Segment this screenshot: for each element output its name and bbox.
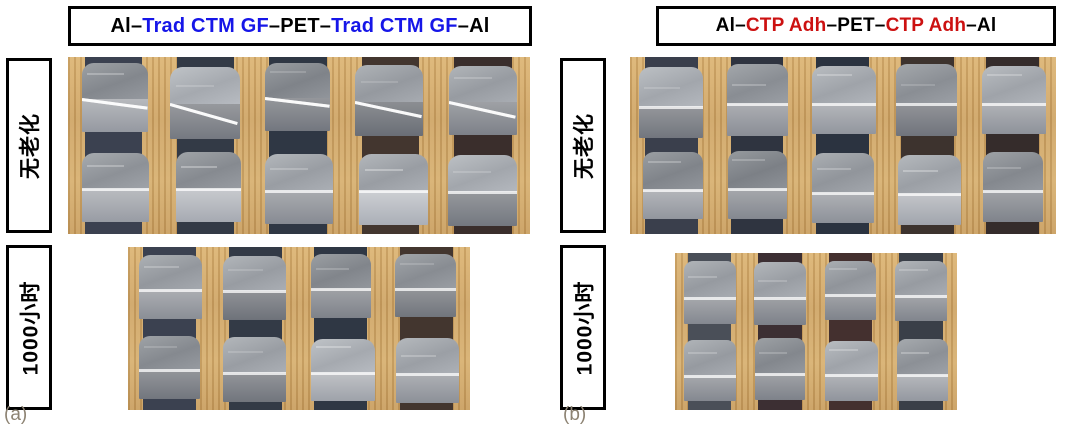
specimen-upper-face	[355, 65, 423, 102]
specimen-upper-face	[176, 152, 242, 188]
peel-specimen	[895, 261, 947, 321]
delamination-seam	[755, 373, 805, 376]
peel-specimen	[896, 64, 957, 136]
peel-specimen	[170, 67, 240, 138]
panel-b-title: Al–CTP Adh– PET–CTP Adh–Al	[656, 6, 1056, 46]
title-b-seg-5: –	[875, 15, 886, 37]
specimen-highlight	[987, 74, 1022, 76]
specimen-highlight	[181, 166, 217, 168]
title-b-seg-3: –	[826, 15, 837, 37]
specimen-highlight	[316, 268, 349, 270]
delamination-seam	[139, 369, 200, 372]
specimen-highlight	[454, 77, 492, 79]
panel-b-1000h-photo	[675, 253, 957, 410]
specimen-upper-face	[139, 336, 200, 371]
panel-a-title: Al–Trad CTM GF– PET–Trad CTM GF–Al	[68, 6, 532, 46]
specimen-lower-face	[897, 375, 948, 401]
peel-specimen	[139, 336, 200, 399]
peel-specimen	[898, 155, 961, 225]
delamination-seam	[895, 295, 947, 298]
specimen-upper-face	[812, 153, 874, 192]
title-b-seg-4: PET	[837, 15, 875, 37]
specimen-highlight	[829, 268, 857, 270]
delamination-seam	[684, 297, 736, 300]
peel-specimen	[754, 262, 806, 325]
specimen-lower-face	[139, 370, 200, 398]
specimen-highlight	[732, 84, 766, 86]
peel-specimen	[176, 152, 242, 222]
delamination-seam	[684, 375, 736, 378]
specimen-highlight	[644, 87, 679, 89]
panel-a-row-label-1000h: 1000小时	[6, 245, 52, 410]
title-a-seg-3: –	[269, 15, 280, 38]
delamination-seam	[395, 288, 456, 291]
panel-b-caption: (b)	[563, 404, 586, 426]
specimen-highlight	[817, 74, 852, 76]
specimen-lower-face	[825, 375, 878, 400]
delamination-seam	[311, 372, 376, 375]
specimen-highlight	[759, 352, 787, 354]
specimen-highlight	[899, 269, 928, 271]
peel-specimen	[639, 67, 703, 139]
specimen-highlight	[87, 73, 123, 75]
specimen-upper-face	[223, 256, 286, 291]
specimen-upper-face	[139, 255, 202, 290]
peel-specimen	[449, 66, 517, 135]
specimen-lower-face	[684, 298, 736, 324]
row-label-text: 无老化	[14, 113, 44, 179]
specimen-upper-face	[983, 152, 1044, 191]
specimen-lower-face	[812, 104, 876, 134]
specimen-lower-face	[812, 193, 874, 224]
specimen-lower-face	[755, 374, 805, 400]
specimen-highlight	[361, 81, 398, 83]
specimen-lower-face	[396, 374, 460, 404]
specimen-lower-face	[825, 295, 876, 320]
specimen-upper-face	[728, 151, 788, 189]
delamination-seam	[265, 190, 334, 193]
specimen-lower-face	[395, 289, 456, 317]
specimen-upper-face	[898, 155, 961, 194]
specimen-upper-face	[825, 341, 878, 376]
title-b-seg-0: Al	[716, 15, 735, 37]
specimen-highlight	[270, 168, 308, 170]
peel-specimen	[825, 341, 878, 401]
panel-a-1000h-photo	[128, 247, 470, 410]
delamination-seam	[139, 289, 202, 292]
specimen-upper-face	[395, 254, 456, 289]
specimen-highlight	[401, 355, 436, 357]
specimen-lower-face	[898, 194, 961, 225]
specimen-upper-face	[897, 339, 948, 375]
specimen-upper-face	[812, 66, 876, 104]
peel-specimen	[265, 154, 334, 224]
specimen-upper-face	[448, 155, 518, 192]
title-a-seg-0: Al	[111, 15, 131, 38]
title-b-seg-6: CTP Adh	[886, 15, 967, 37]
panel-b-unaged-photo	[630, 57, 1056, 234]
specimen-highlight	[829, 349, 858, 351]
delamination-seam	[812, 103, 876, 106]
row-label-text: 无老化	[568, 113, 598, 179]
specimen-lower-face	[639, 107, 703, 139]
specimen-highlight	[365, 169, 403, 171]
peel-specimen	[355, 65, 423, 136]
delamination-seam	[311, 288, 371, 291]
specimen-highlight	[732, 159, 765, 161]
specimen-lower-face	[139, 290, 202, 319]
specimen-lower-face	[643, 190, 703, 220]
peel-specimen	[395, 254, 456, 317]
specimen-lower-face	[223, 373, 286, 402]
delamination-seam	[897, 374, 948, 377]
delamination-seam	[643, 189, 703, 192]
peel-specimen	[82, 153, 149, 222]
panel-b-row-label-unaged: 无老化	[560, 58, 606, 233]
specimen-upper-face	[311, 254, 371, 290]
specimen-lower-face	[82, 189, 149, 222]
title-a-seg-7: –	[458, 15, 469, 38]
delamination-seam	[82, 188, 149, 191]
delamination-seam	[448, 191, 518, 194]
peel-specimen	[139, 255, 202, 318]
row-label-text: 1000小时	[14, 280, 44, 375]
specimen-highlight	[648, 161, 681, 163]
specimen-upper-face	[895, 261, 947, 296]
specimen-upper-face	[265, 154, 334, 190]
specimen-highlight	[901, 352, 929, 354]
delamination-seam	[754, 297, 806, 300]
specimen-lower-face	[265, 191, 334, 225]
specimen-lower-face	[311, 373, 376, 401]
peel-specimen	[223, 256, 286, 320]
peel-specimen	[897, 339, 948, 401]
panel-a-unaged-photo	[68, 57, 530, 234]
specimen-upper-face	[755, 338, 805, 374]
peel-specimen	[359, 154, 428, 224]
figure-root: Al–Trad CTM GF– PET–Trad CTM GF–Al 无老化 1…	[0, 0, 1080, 433]
specimen-upper-face	[982, 66, 1046, 104]
delamination-seam	[812, 192, 874, 195]
delamination-seam	[896, 103, 957, 106]
specimen-highlight	[87, 165, 124, 167]
specimen-lower-face	[754, 298, 806, 325]
specimen-upper-face	[82, 153, 149, 189]
specimen-upper-face	[449, 66, 517, 102]
specimen-lower-face	[727, 104, 788, 136]
specimen-upper-face	[223, 337, 286, 372]
specimen-highlight	[453, 171, 491, 173]
delamination-seam	[223, 372, 286, 375]
specimen-highlight	[688, 352, 717, 354]
peel-specimen	[396, 338, 460, 404]
delamination-seam	[983, 190, 1044, 193]
peel-specimen	[311, 339, 376, 401]
specimen-lower-face	[355, 102, 423, 136]
specimen-highlight	[987, 167, 1020, 169]
specimen-lower-face	[176, 189, 242, 223]
specimen-highlight	[901, 84, 935, 86]
delamination-seam	[396, 373, 460, 376]
peel-specimen	[643, 152, 703, 220]
title-b-seg-2: CTP Adh	[746, 15, 827, 37]
delamination-seam	[639, 106, 703, 109]
specimen-upper-face	[684, 261, 736, 297]
specimen-highlight	[758, 280, 787, 282]
peel-specimen	[812, 153, 874, 223]
specimen-lower-face	[684, 376, 736, 402]
specimen-lower-face	[728, 189, 788, 219]
title-a-seg-1: –	[131, 15, 142, 38]
specimen-lower-face	[359, 191, 428, 225]
delamination-seam	[898, 193, 961, 196]
peel-specimen	[982, 66, 1046, 133]
specimen-upper-face	[684, 340, 736, 376]
specimen-highlight	[400, 263, 434, 265]
peel-specimen	[684, 261, 736, 324]
peel-specimen	[265, 63, 330, 131]
delamination-seam	[982, 103, 1046, 106]
peel-specimen	[755, 338, 805, 400]
title-a-seg-4: PET	[280, 15, 320, 38]
specimen-upper-face	[825, 261, 876, 296]
specimen-upper-face	[265, 63, 330, 98]
specimen-lower-face	[311, 289, 371, 318]
title-a-seg-5: –	[320, 15, 331, 38]
title-b-seg-1: –	[735, 15, 746, 37]
specimen-highlight	[176, 85, 215, 87]
specimen-lower-face	[448, 192, 518, 226]
specimen-highlight	[270, 71, 306, 73]
specimen-lower-face	[983, 191, 1044, 222]
specimen-highlight	[228, 269, 263, 271]
specimen-highlight	[144, 266, 178, 268]
peel-specimen	[727, 64, 788, 136]
specimen-highlight	[688, 276, 717, 278]
delamination-seam	[176, 188, 242, 191]
specimen-highlight	[817, 168, 851, 170]
specimen-upper-face	[359, 154, 428, 191]
delamination-seam	[359, 190, 428, 193]
peel-specimen	[448, 155, 518, 226]
title-a-seg-6: Trad CTM GF	[331, 15, 458, 38]
specimen-lower-face	[223, 291, 286, 320]
peel-specimen	[684, 340, 736, 402]
peel-specimen	[983, 152, 1044, 222]
specimen-highlight	[316, 346, 352, 348]
specimen-lower-face	[895, 296, 947, 321]
specimen-lower-face	[982, 104, 1046, 134]
specimen-lower-face	[896, 104, 957, 135]
specimen-upper-face	[643, 152, 703, 190]
delamination-seam	[825, 294, 876, 297]
peel-specimen	[311, 254, 371, 319]
delamination-seam	[825, 374, 878, 377]
specimen-highlight	[144, 346, 178, 348]
panel-a-row-label-unaged: 无老化	[6, 58, 52, 233]
specimen-highlight	[228, 351, 263, 353]
specimen-upper-face	[311, 339, 376, 373]
row-label-text: 1000小时	[568, 280, 598, 375]
panel-a-caption: (a)	[4, 404, 27, 426]
delamination-seam	[728, 188, 788, 191]
specimen-highlight	[903, 170, 938, 172]
peel-specimen	[825, 261, 876, 321]
title-b-seg-7: –	[966, 15, 977, 37]
peel-specimen	[82, 63, 148, 131]
peel-specimen	[812, 66, 876, 133]
panel-b-row-label-1000h: 1000小时	[560, 245, 606, 410]
title-b-seg-8: Al	[977, 15, 996, 37]
delamination-seam	[223, 290, 286, 293]
delamination-seam	[727, 103, 788, 106]
specimen-upper-face	[82, 63, 148, 98]
title-a-seg-2: Trad CTM GF	[142, 15, 269, 38]
peel-specimen	[223, 337, 286, 401]
title-a-seg-8: Al	[469, 15, 489, 38]
peel-specimen	[728, 151, 788, 218]
